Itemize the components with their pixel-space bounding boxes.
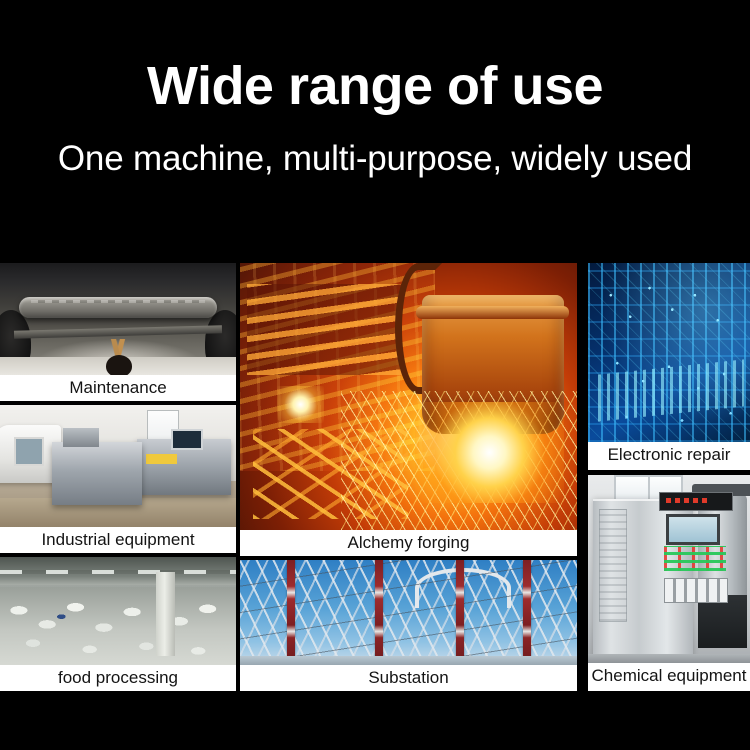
circuit-board-icon [588, 263, 750, 442]
cnc-machine-icon [0, 405, 236, 527]
banner-header: Wide range of use One machine, multi-pur… [0, 0, 750, 255]
alchemy-forging-photo [240, 263, 577, 530]
gallery-item-maintenance[interactable]: Maintenance [0, 263, 236, 401]
gallery-item-caption: Maintenance [0, 375, 236, 401]
page-subtitle: One machine, multi-purpose, widely used [0, 138, 750, 180]
gallery-item-caption: Chemical equipment [588, 663, 750, 691]
application-gallery-grid: Maintenance Industrial equipment [0, 263, 750, 693]
substation-photo [240, 560, 577, 665]
gallery-item-caption: food processing [0, 665, 236, 691]
gallery-item-alchemy-forging[interactable]: Alchemy forging [240, 263, 577, 556]
gallery-item-caption: Industrial equipment [0, 527, 236, 553]
electronic-repair-photo [588, 263, 750, 442]
control-cabinet-icon [588, 475, 750, 663]
gallery-item-caption: Electronic repair [588, 442, 750, 470]
promo-banner: Wide range of use One machine, multi-pur… [0, 0, 750, 750]
gallery-item-industrial-equipment[interactable]: Industrial equipment [0, 405, 236, 553]
gallery-item-caption: Substation [240, 665, 577, 691]
molten-steel-ladle-icon [240, 263, 577, 530]
gallery-item-food-processing[interactable]: food processing [0, 557, 236, 691]
industrial-equipment-photo [0, 405, 236, 527]
power-tower-icon [240, 560, 577, 665]
factory-workers-icon [0, 557, 236, 665]
maintenance-photo [0, 263, 236, 375]
car-undercarriage-icon [0, 263, 236, 375]
food-processing-photo [0, 557, 236, 665]
chemical-equipment-photo [588, 475, 750, 663]
gallery-item-substation[interactable]: Substation [240, 560, 577, 691]
page-title: Wide range of use [0, 56, 750, 116]
gallery-item-caption: Alchemy forging [240, 530, 577, 556]
gallery-item-chemical-equipment[interactable]: Chemical equipment [588, 475, 750, 691]
gallery-item-electronic-repair[interactable]: Electronic repair [588, 263, 750, 470]
